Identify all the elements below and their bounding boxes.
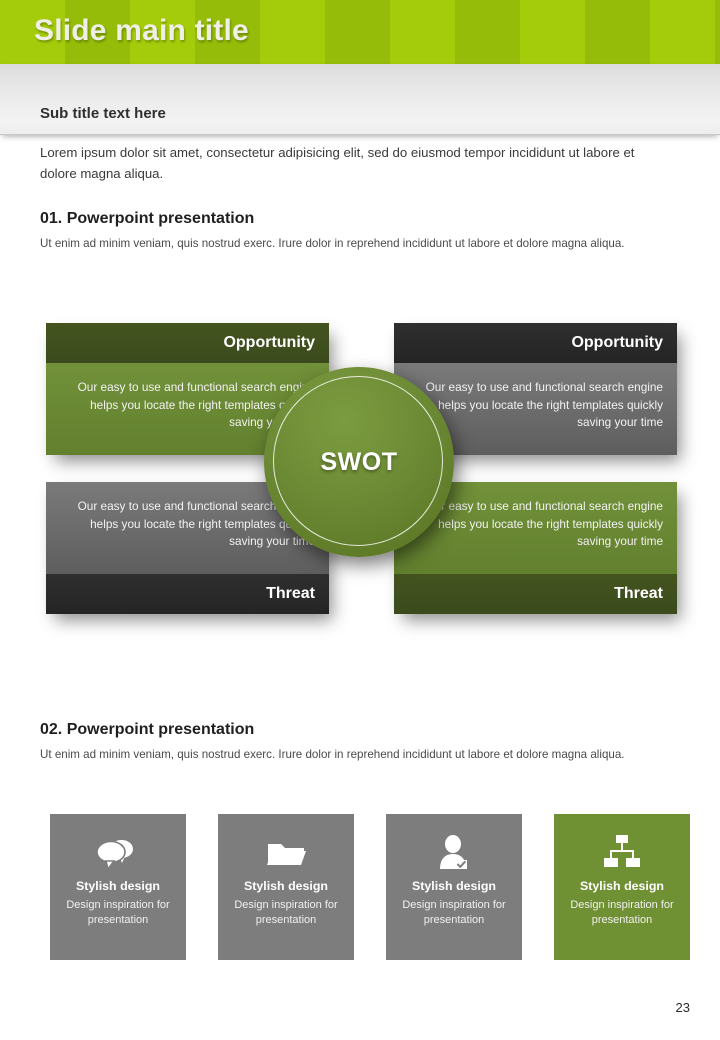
feature-card-2-subtitle: Design inspiration for presentation (218, 898, 354, 928)
subtitle-text: Sub title text here (40, 105, 166, 122)
section-2-body: Ut enim ad minim veniam, quis nostrud ex… (40, 746, 638, 763)
feature-card-2[interactable]: Stylish design Design inspiration for pr… (218, 814, 354, 960)
feature-card-4-subtitle: Design inspiration for presentation (554, 898, 690, 928)
feature-card-4[interactable]: Stylish design Design inspiration for pr… (554, 814, 690, 960)
folder-icon (218, 814, 354, 876)
page-number: 23 (676, 1000, 690, 1015)
swot-center-circle[interactable]: SWOT (264, 367, 454, 557)
sitemap-icon (554, 814, 690, 876)
feature-card-1-subtitle: Design inspiration for presentation (50, 898, 186, 928)
slide-header: Slide main title (0, 0, 720, 64)
feature-card-1-title: Stylish design (50, 879, 186, 893)
section-2-title: 02. Powerpoint presentation (40, 721, 254, 739)
swot-caption-opportunity-right: Opportunity (394, 323, 677, 363)
page-title: Slide main title (34, 14, 249, 48)
section-1-body: Ut enim ad minim veniam, quis nostrud ex… (40, 235, 638, 252)
swot-caption-threat-right: Threat (394, 574, 677, 614)
user-check-icon (386, 814, 522, 876)
swot-caption-threat-left: Threat (46, 574, 329, 614)
feature-card-3-title: Stylish design (386, 879, 522, 893)
swot-diagram: Opportunity Our easy to use and function… (0, 310, 720, 655)
section-1-title: 01. Powerpoint presentation (40, 210, 254, 228)
feature-card-row: Stylish design Design inspiration for pr… (0, 814, 720, 960)
feature-card-4-title: Stylish design (554, 879, 690, 893)
feature-card-3-subtitle: Design inspiration for presentation (386, 898, 522, 928)
feature-card-1[interactable]: Stylish design Design inspiration for pr… (50, 814, 186, 960)
swot-center-label: SWOT (321, 448, 398, 477)
subtitle-band: Sub title text here (0, 64, 720, 135)
feature-card-2-title: Stylish design (218, 879, 354, 893)
swot-caption-opportunity-left: Opportunity (46, 323, 329, 363)
intro-paragraph: Lorem ipsum dolor sit amet, consectetur … (40, 142, 640, 184)
speech-bubbles-icon (50, 814, 186, 876)
feature-card-3[interactable]: Stylish design Design inspiration for pr… (386, 814, 522, 960)
